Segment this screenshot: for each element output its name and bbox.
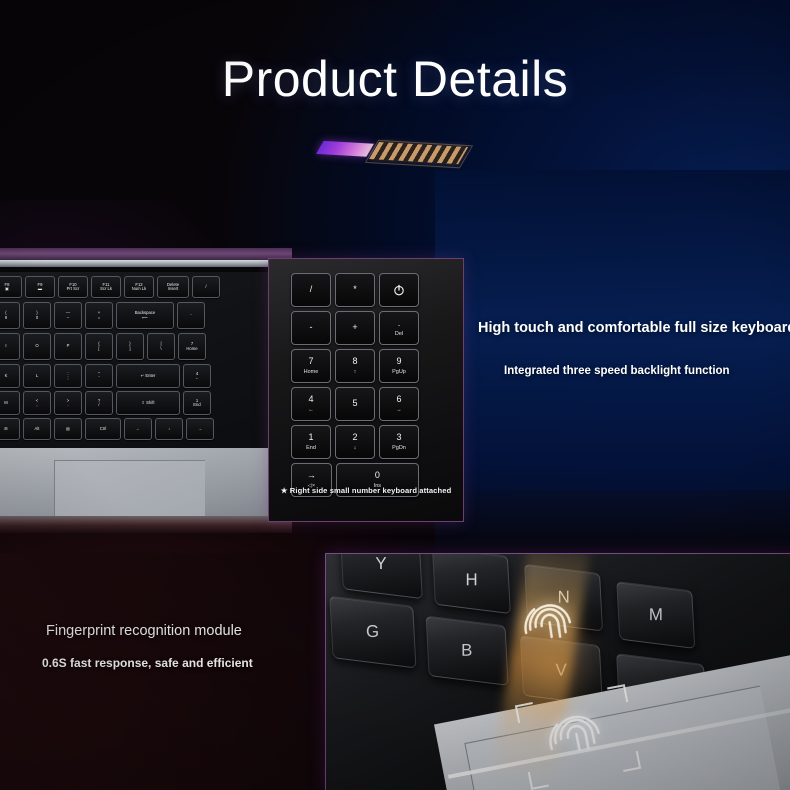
product-details-page: Product Details F8▣F9▬F10Prt ScrF11Scr L… xyxy=(0,0,790,790)
vignette-overlay xyxy=(0,0,790,790)
